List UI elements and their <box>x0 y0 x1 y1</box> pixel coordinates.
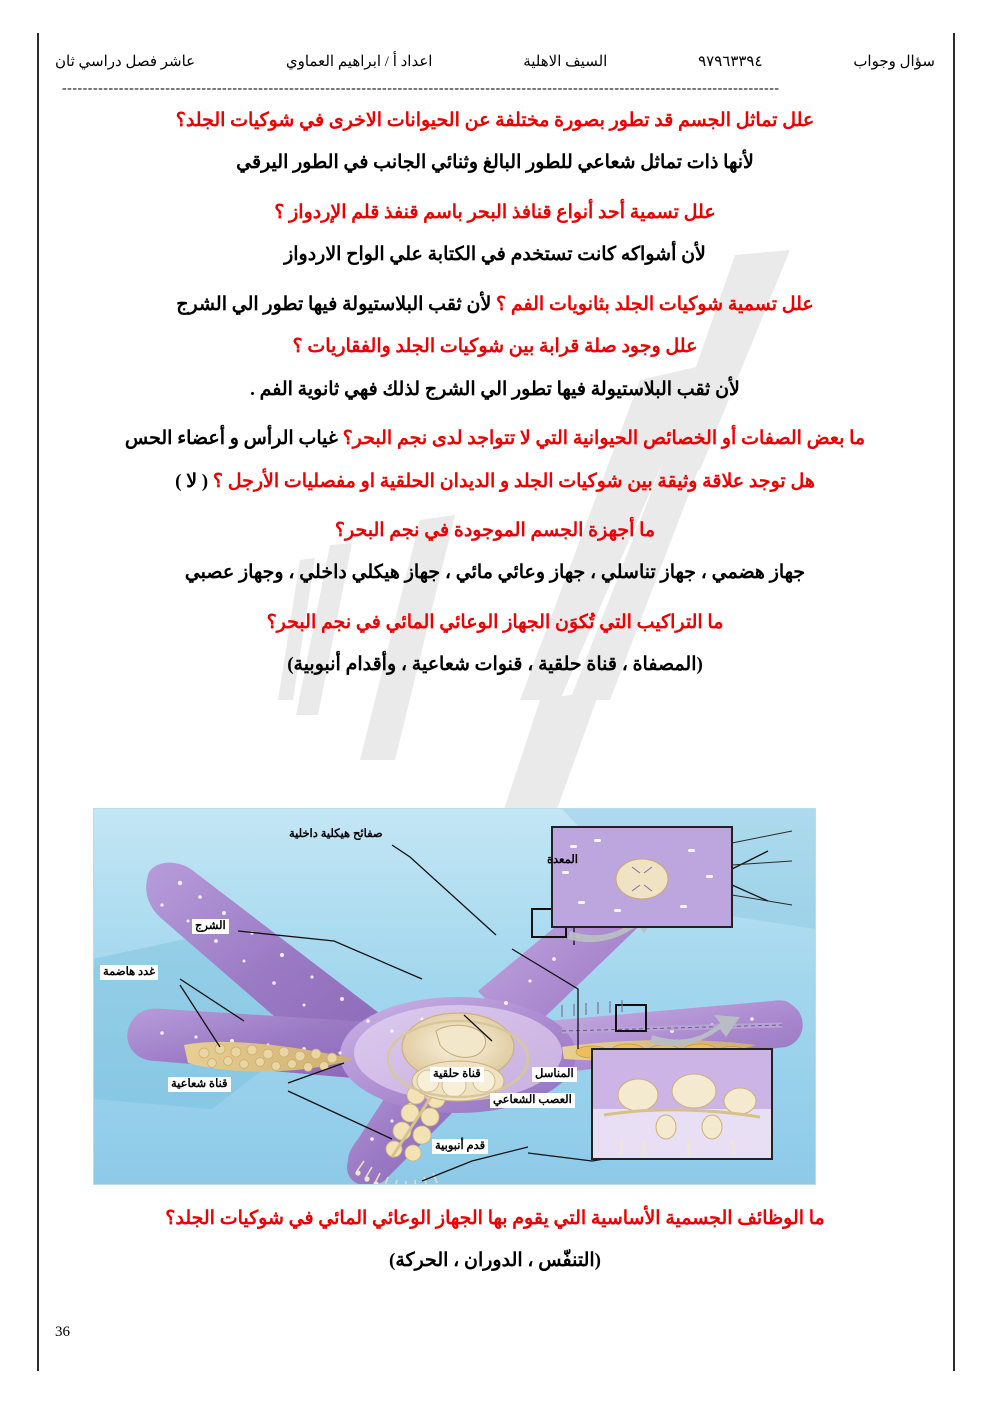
figure-label-internal-plates: صفائح هيكلية داخلية <box>286 827 386 842</box>
answer-9-text: (التنفّس ، الدوران ، الحركة) <box>389 1250 601 1271</box>
question-5-text: ما بعض الصفات أو الخصائص الحيوانية التي … <box>343 428 866 449</box>
answer-8-text: (المصفاة ، قناة حلقية ، قنوات شعاعية ، و… <box>287 654 703 675</box>
answer-4: لأن ثقب البلاستيولة فيها تطور الي الشرج … <box>55 375 935 404</box>
figure-label-gonads: المناسل <box>532 1067 577 1082</box>
figure-label-digestive-glands: غدد هاضمة <box>100 965 158 980</box>
question-4: علل وجود صلة قرابة بين شوكيات الجلد والف… <box>55 332 935 361</box>
answer-7: جهاز هضمي ، جهاز تناسلي ، جهاز وعائي مائ… <box>55 558 935 587</box>
answer-7-text: جهاز هضمي ، جهاز تناسلي ، جهاز وعائي مائ… <box>185 562 805 583</box>
question-2: علل تسمية أحد أنواع قنافذ البحر باسم قنف… <box>55 198 935 227</box>
answer-4-text: لأن ثقب البلاستيولة فيها تطور الي الشرج … <box>250 379 740 400</box>
document-footer-body: ما الوظائف الجسمية الأساسية التي يقوم به… <box>55 1204 935 1276</box>
answer-1-text: لأنها ذات تماثل شعاعي للطور البالغ وثنائ… <box>236 152 754 173</box>
question-9: ما الوظائف الجسمية الأساسية التي يقوم به… <box>55 1204 935 1233</box>
figure-label-anus: الشرج <box>192 919 229 934</box>
question-5: ما بعض الصفات أو الخصائص الحيوانية التي … <box>55 424 935 453</box>
figure-label-stomach: المعدة <box>544 853 581 868</box>
question-4-text: علل وجود صلة قرابة بين شوكيات الجلد والف… <box>293 336 698 357</box>
starfish-illustration <box>93 809 815 1185</box>
header-phone: ٩٧٩٦٣٣٩٤ <box>698 52 762 71</box>
page-number: 36 <box>55 1324 935 1341</box>
answer-5-text: غياب الرأس و أعضاء الحس <box>125 428 338 449</box>
figure-label-tube-foot: قدم أنبوبية <box>432 1139 488 1154</box>
question-8: ما التراكيب التي تُكوَن الجهاز الوعائي ا… <box>55 608 935 637</box>
answer-2-text: لأن أشواكه كانت تستخدم في الكتابة علي ال… <box>284 244 706 265</box>
header-divider: ----------------------------------------… <box>62 84 930 94</box>
document-body: علل تماثل الجسم قد تطور بصورة مختلفة عن … <box>55 106 935 680</box>
question-2-text: علل تسمية أحد أنواع قنافذ البحر باسم قنف… <box>274 202 715 223</box>
question-9-text: ما الوظائف الجسمية الأساسية التي يقوم به… <box>165 1208 824 1229</box>
header-grade: عاشر فصل دراسي ثان <box>55 52 195 71</box>
question-7: ما أجهزة الجسم الموجودة في نجم البحر؟ <box>55 516 935 545</box>
figure-label-radial-nerve: العصب الشعاعي <box>490 1093 575 1108</box>
question-3-text: علل تسمية شوكيات الجلد بثانويات الفم ؟ <box>496 294 814 315</box>
question-7-text: ما أجهزة الجسم الموجودة في نجم البحر؟ <box>335 520 655 541</box>
starfish-anatomy-figure: صفائح هيكلية داخلية المعدة الشرج غدد هاض… <box>93 808 816 1185</box>
question-8-text: ما التراكيب التي تُكوَن الجهاز الوعائي ا… <box>267 612 724 633</box>
figure-label-ring-canal: قناة حلقية <box>430 1067 484 1082</box>
question-1-text: علل تماثل الجسم قد تطور بصورة مختلفة عن … <box>176 110 815 131</box>
question-6-text: هل توجد علاقة وثيقة بين شوكيات الجلد و ا… <box>213 471 815 492</box>
question-6: هل توجد علاقة وثيقة بين شوكيات الجلد و ا… <box>55 467 935 496</box>
answer-8: (المصفاة ، قناة حلقية ، قنوات شعاعية ، و… <box>55 650 935 679</box>
answer-3-text: لأن ثقب البلاستيولة فيها تطور الي الشرج <box>176 294 491 315</box>
header-title: سؤال وجواب <box>853 52 935 71</box>
document-page: سؤال وجواب ٩٧٩٦٣٣٩٤ السيف الاهلية اعداد … <box>0 0 992 1403</box>
answer-6-text: ( لا ) <box>175 471 208 492</box>
figure-label-radial-canal: قناة شعاعية <box>168 1077 231 1092</box>
question-1: علل تماثل الجسم قد تطور بصورة مختلفة عن … <box>55 106 935 135</box>
header-prepared-by: اعداد أ / ابراهيم العماوي <box>286 52 433 71</box>
answer-1: لأنها ذات تماثل شعاعي للطور البالغ وثنائ… <box>55 148 935 177</box>
header-school: السيف الاهلية <box>523 52 607 71</box>
answer-9: (التنفّس ، الدوران ، الحركة) <box>55 1246 935 1275</box>
page-header: سؤال وجواب ٩٧٩٦٣٣٩٤ السيف الاهلية اعداد … <box>55 52 935 71</box>
question-3: علل تسمية شوكيات الجلد بثانويات الفم ؟ ل… <box>55 290 935 319</box>
answer-2: لأن أشواكه كانت تستخدم في الكتابة علي ال… <box>55 240 935 269</box>
